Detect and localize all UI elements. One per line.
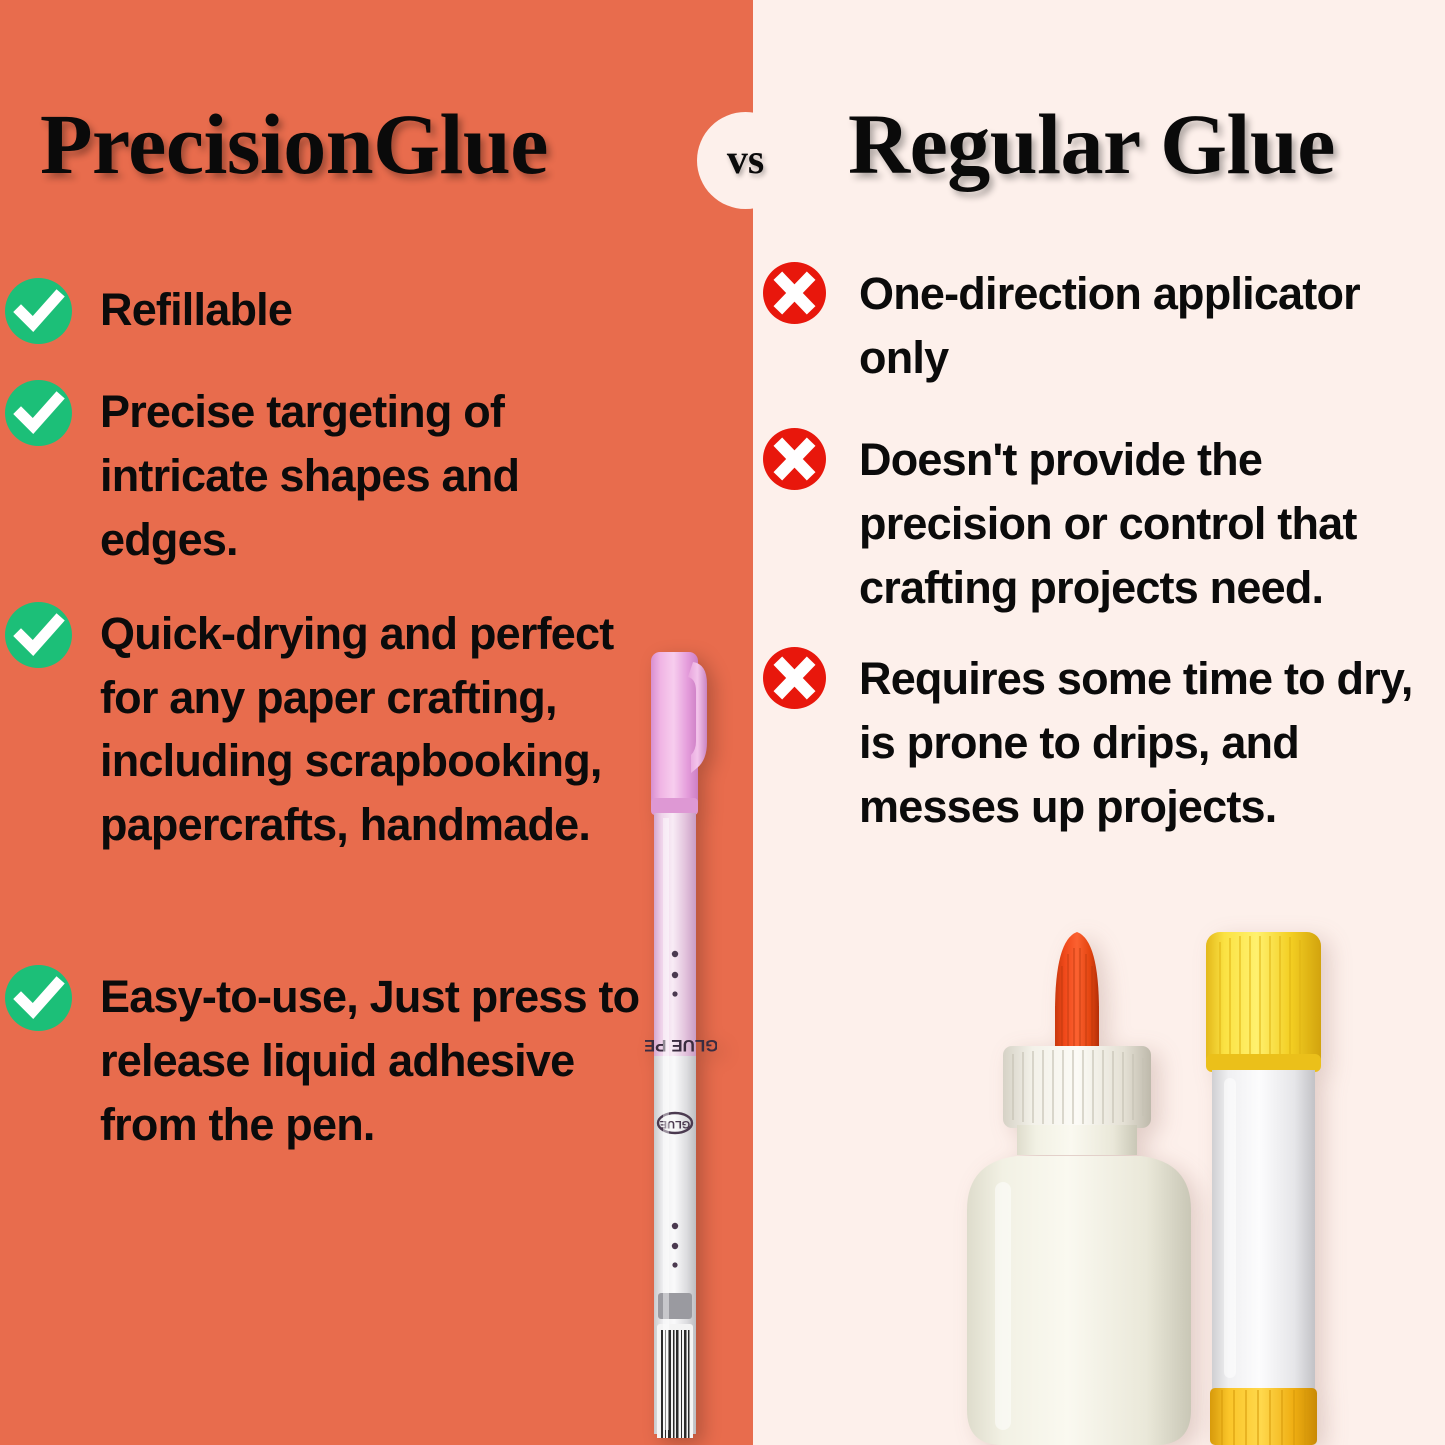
cross-icon-wrapper: [763, 262, 847, 324]
list-item: Quick-drying and perfect for any paper c…: [0, 602, 640, 858]
versus-badge: vs: [697, 112, 794, 209]
list-item: One-direction applicator only: [755, 262, 1445, 390]
comparison-infographic: PrecisionGlue vs Regular Glue Refillable: [0, 0, 1445, 1445]
cross-icon-wrapper: [763, 647, 847, 709]
left-product-title: PrecisionGlue: [40, 101, 548, 187]
check-circle-icon: [5, 602, 72, 668]
svg-text:GLUE PEN: GLUE PEN: [645, 1036, 717, 1055]
list-item: Doesn't provide the precision or control…: [755, 428, 1445, 620]
right-product-title: Regular Glue: [848, 101, 1335, 187]
cross-circle-icon: [763, 262, 826, 324]
cross-icon-wrapper: [763, 428, 847, 490]
check-circle-icon: [5, 278, 72, 344]
list-item-label: Doesn't provide the precision or control…: [847, 428, 1445, 620]
white-glue-bottle-photo: [955, 920, 1203, 1445]
check-circle-icon: [5, 965, 72, 1031]
pros-list: Refillable Precise targeting of intricat…: [0, 278, 640, 1157]
cross-circle-icon: [763, 647, 826, 709]
list-item-label: Quick-drying and perfect for any paper c…: [72, 602, 640, 858]
list-item: Precise targeting of intricate shapes an…: [0, 380, 640, 572]
cons-list: One-direction applicator only Doesn't pr…: [755, 262, 1445, 839]
glue-pen-photo: GLUE PEN GLUE: [645, 648, 717, 1438]
list-item-label: Requires some time to dry, is prone to d…: [847, 647, 1445, 839]
cross-circle-icon: [763, 428, 826, 490]
check-icon-wrapper: [0, 602, 72, 668]
list-item: Easy-to-use, Just press to release liqui…: [0, 965, 640, 1157]
list-item-label: Easy-to-use, Just press to release liqui…: [72, 965, 640, 1157]
check-icon-wrapper: [0, 278, 72, 344]
list-item: Requires some time to dry, is prone to d…: [755, 647, 1445, 839]
list-item: Refillable: [0, 278, 640, 344]
list-item-label: Refillable: [72, 278, 292, 342]
check-icon-wrapper: [0, 380, 72, 446]
list-item-label: One-direction applicator only: [847, 262, 1445, 390]
check-icon-wrapper: [0, 965, 72, 1031]
glue-stick-photo: [1192, 928, 1334, 1445]
versus-label: vs: [727, 139, 764, 181]
check-circle-icon: [5, 380, 72, 446]
list-item-label: Precise targeting of intricate shapes an…: [72, 380, 640, 572]
